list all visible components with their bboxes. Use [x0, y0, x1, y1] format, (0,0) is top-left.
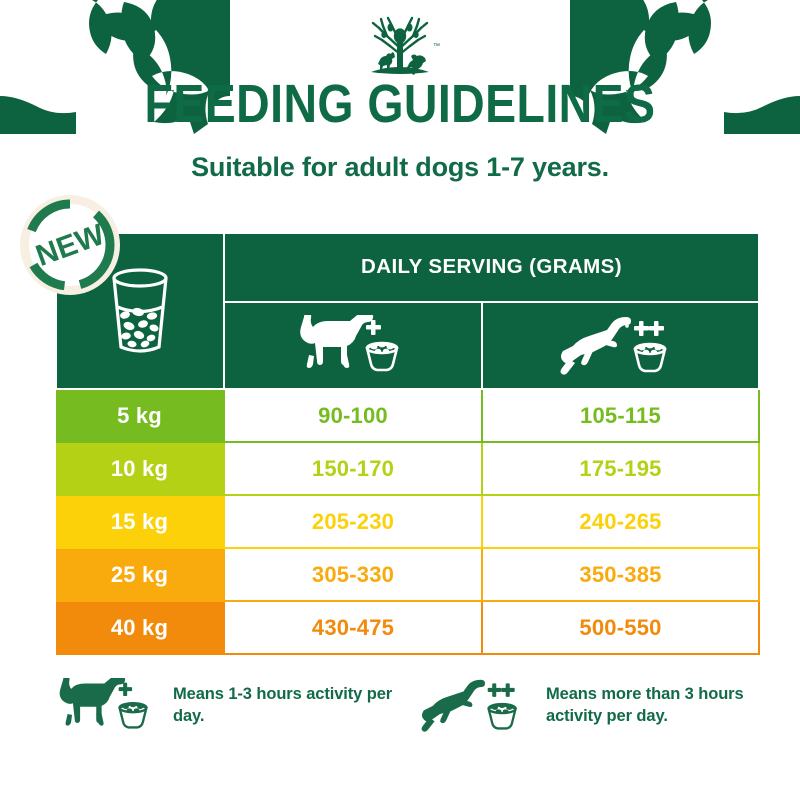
- standing-dog-with-bowl-icon: [295, 315, 411, 375]
- tree-with-paw-logo-icon: ™: [357, 14, 443, 80]
- new-badge: NEW: [18, 193, 122, 297]
- high-activity-value-cell: 105-115: [482, 389, 759, 442]
- weight-cell: 25 kg: [56, 548, 224, 601]
- table-row: 10 kg150-170175-195: [56, 442, 759, 495]
- weight-cell: 5 kg: [56, 389, 224, 442]
- standing-dog-with-bowl-icon: [55, 678, 159, 732]
- table-row: 15 kg205-230240-265: [56, 495, 759, 548]
- low-activity-value-cell: 90-100: [224, 389, 482, 442]
- table-header-row: DAILY SERVING (GRAMS): [56, 233, 759, 302]
- legend: Means 1-3 hours activity per day.: [0, 678, 800, 758]
- legend-label-high-activity: Means more than 3 hours activity per day…: [546, 683, 776, 727]
- page-title: FEEDING GUIDELINES: [56, 76, 744, 132]
- page-subtitle: Suitable for adult dogs 1-7 years.: [0, 150, 800, 184]
- low-activity-value-cell: 430-475: [224, 601, 482, 654]
- legend-label-low-activity: Means 1-3 hours activity per day.: [173, 683, 403, 727]
- legend-item-low-activity: Means 1-3 hours activity per day.: [55, 678, 403, 732]
- jumping-dog-with-bowl-icon: [559, 315, 683, 375]
- weight-cell: 40 kg: [56, 601, 224, 654]
- low-activity-value-cell: 305-330: [224, 548, 482, 601]
- weight-cell: 10 kg: [56, 442, 224, 495]
- table-data-rows: 5 kg90-100105-11510 kg150-170175-19515 k…: [56, 389, 759, 654]
- feeding-table: DAILY SERVING (GRAMS): [55, 232, 760, 655]
- trademark-symbol: ™: [433, 43, 440, 50]
- high-activity-value-cell: 350-385: [482, 548, 759, 601]
- high-activity-value-cell: 500-550: [482, 601, 759, 654]
- feeding-guidelines-infographic: ™ FEEDING GUIDELINES Suitable for adult …: [0, 0, 800, 800]
- high-activity-icon-cell: [482, 302, 759, 389]
- low-activity-value-cell: 150-170: [224, 442, 482, 495]
- jumping-dog-with-bowl-icon: [420, 678, 532, 732]
- table-row: 40 kg430-475500-550: [56, 601, 759, 654]
- low-activity-value-cell: 205-230: [224, 495, 482, 548]
- high-activity-value-cell: 175-195: [482, 442, 759, 495]
- table-row: 5 kg90-100105-115: [56, 389, 759, 442]
- high-activity-value-cell: 240-265: [482, 495, 759, 548]
- table-row: 25 kg305-330350-385: [56, 548, 759, 601]
- daily-serving-header: DAILY SERVING (GRAMS): [224, 233, 759, 302]
- legend-item-high-activity: Means more than 3 hours activity per day…: [420, 678, 776, 732]
- weight-cell: 15 kg: [56, 495, 224, 548]
- low-activity-icon-cell: [224, 302, 482, 389]
